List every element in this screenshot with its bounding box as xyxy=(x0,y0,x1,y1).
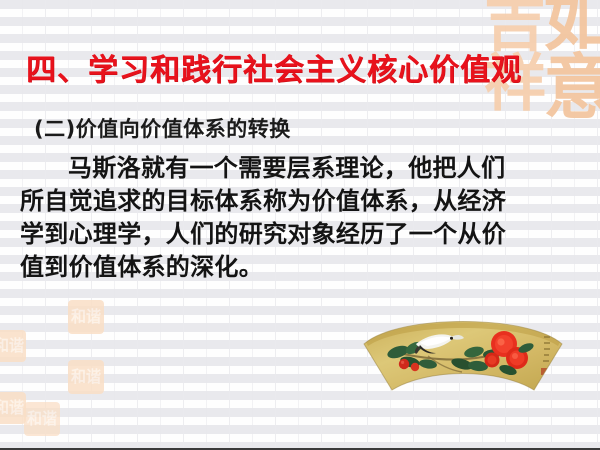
slide-title: 四、学习和践行社会主义核心价值观 xyxy=(26,45,522,89)
slide-canvas: 吉祥 如意 和谐 和谐 和谐 和谐 和谐 四、学习和践行社会主义核心价值观 (二… xyxy=(0,0,600,450)
body-line: 值到价值体系的深化。 xyxy=(20,251,586,284)
body-line: 学到心理学，人们的研究对象经历了一个从价 xyxy=(20,218,586,251)
body-line: 所自觉追求的目标体系称为价值体系，从经济 xyxy=(20,185,586,218)
watermark-column-2: 如意 xyxy=(545,0,600,118)
seal-stamp-text: 和谐 xyxy=(71,369,101,385)
seal-stamp-text: 和谐 xyxy=(71,309,101,325)
seal-stamp-text: 和谐 xyxy=(27,411,57,427)
seal-stamp-text: 和谐 xyxy=(0,400,24,416)
seal-stamp-text: 和谐 xyxy=(0,338,24,354)
seal-stamp: 和谐 xyxy=(0,330,26,362)
slide-body: 马斯洛就有一个需要层系理论，他把人们 所自觉追求的目标体系称为价值体系，从经济 … xyxy=(20,152,586,284)
seal-stamp: 和谐 xyxy=(68,360,104,394)
seal-stamp: 和谐 xyxy=(24,402,60,436)
body-line: 马斯洛就有一个需要层系理论，他把人们 xyxy=(20,152,586,185)
slide-subtitle: (二)价值向价值体系的转换 xyxy=(34,113,291,143)
fan-painting xyxy=(358,312,568,398)
seal-stamp: 和谐 xyxy=(68,300,104,334)
seal-stamp: 和谐 xyxy=(0,392,26,424)
